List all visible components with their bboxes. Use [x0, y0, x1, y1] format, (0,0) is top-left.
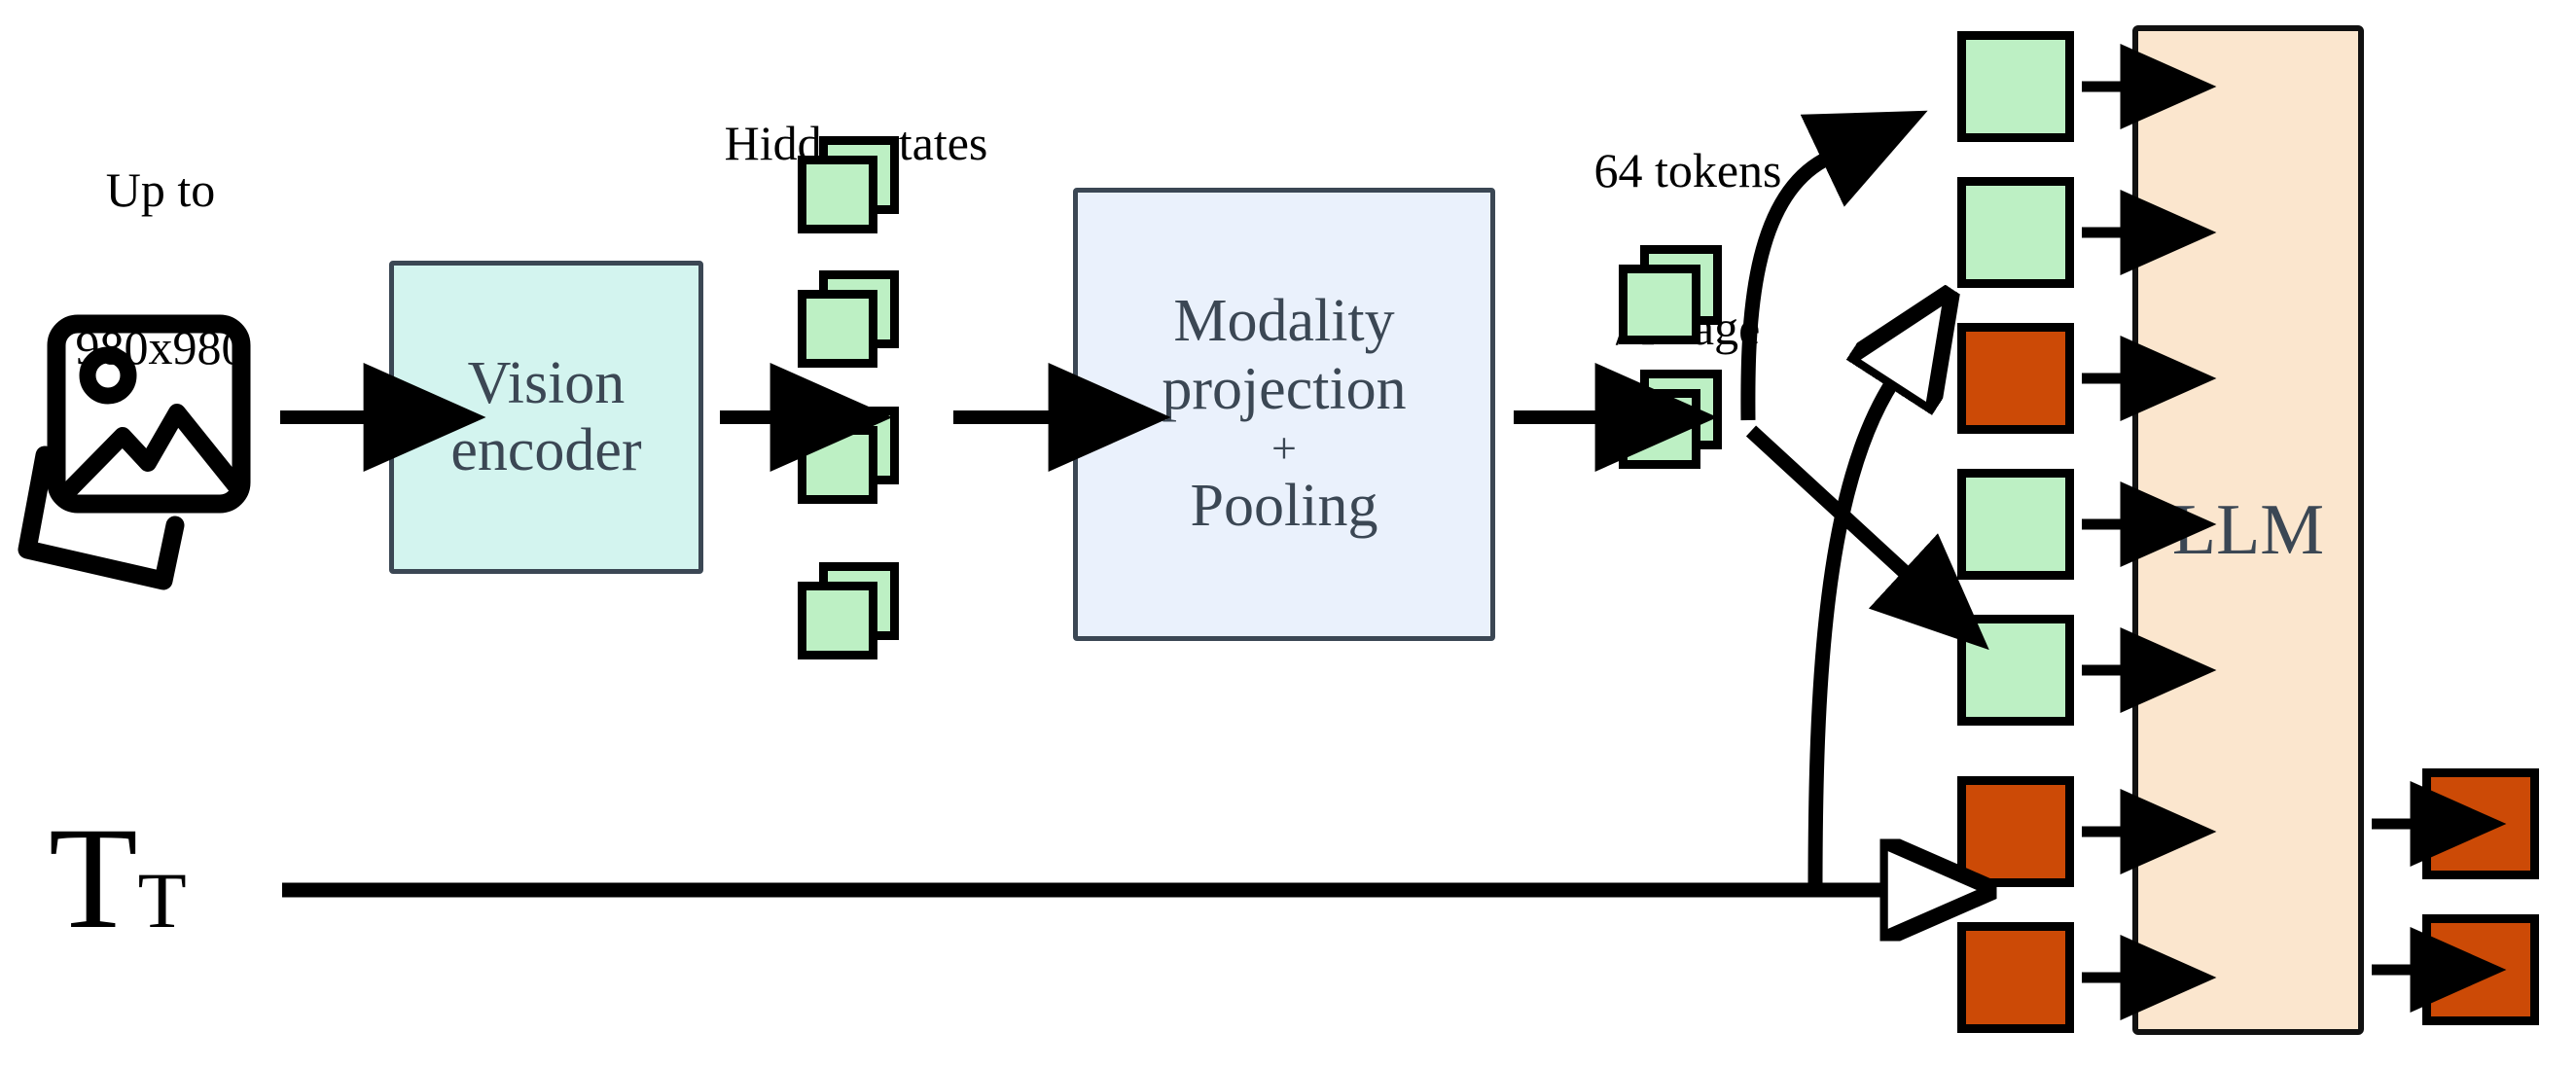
llm-input-token-3[interactable]	[1957, 323, 2074, 434]
text-input-label: T T	[49, 805, 187, 951]
image-resolution-line2: 980x980	[19, 321, 302, 374]
llm-input-token-7[interactable]	[1957, 922, 2074, 1033]
tokens-line1: 64 tokens	[1527, 144, 1848, 196]
card-front	[798, 156, 877, 233]
vision-encoder-line1: Vision	[450, 350, 641, 417]
card-front	[1619, 389, 1700, 469]
card-front	[798, 426, 877, 504]
architecture-diagram: Up to 980x980 Vision encoder Hidden stat…	[0, 0, 2576, 1068]
modality-projection-line3: Pooling	[1162, 473, 1406, 540]
card-front	[798, 582, 877, 659]
llm-label: LLM	[2172, 490, 2324, 571]
text-input-subscript: T	[138, 861, 187, 941]
llm-output-token-1[interactable]	[2422, 768, 2539, 879]
text-input-main: T	[49, 805, 138, 951]
llm-input-token-6[interactable]	[1957, 776, 2074, 887]
hidden-state-card-stack[interactable]	[798, 562, 905, 667]
card-front	[1619, 265, 1700, 344]
llm-input-token-2[interactable]	[1957, 177, 2074, 288]
llm-input-token-4[interactable]	[1957, 469, 2074, 580]
modality-projection-line2: projection	[1162, 356, 1406, 423]
llm-box[interactable]: LLM	[2132, 25, 2364, 1035]
vision-encoder-box[interactable]: Vision encoder	[389, 261, 703, 574]
llm-input-token-1[interactable]	[1957, 31, 2074, 142]
modality-projection-line1: Modality	[1162, 288, 1406, 355]
hidden-state-card-stack[interactable]	[798, 136, 905, 241]
card-front	[798, 290, 877, 368]
llm-input-token-5[interactable]	[1957, 615, 2074, 726]
hidden-state-card-stack[interactable]	[798, 270, 905, 375]
image-token-card-stack[interactable]	[1619, 245, 1735, 352]
hidden-state-card-stack[interactable]	[798, 407, 905, 512]
llm-output-token-2[interactable]	[2422, 914, 2539, 1025]
image-token-card-stack[interactable]	[1619, 370, 1735, 477]
image-resolution-label: Up to 980x980	[19, 58, 302, 479]
modality-projection-plus: +	[1162, 423, 1406, 474]
image-resolution-line1: Up to	[19, 163, 302, 216]
vision-encoder-line2: encoder	[450, 417, 641, 484]
modality-projection-box[interactable]: Modality projection + Pooling	[1073, 188, 1495, 641]
